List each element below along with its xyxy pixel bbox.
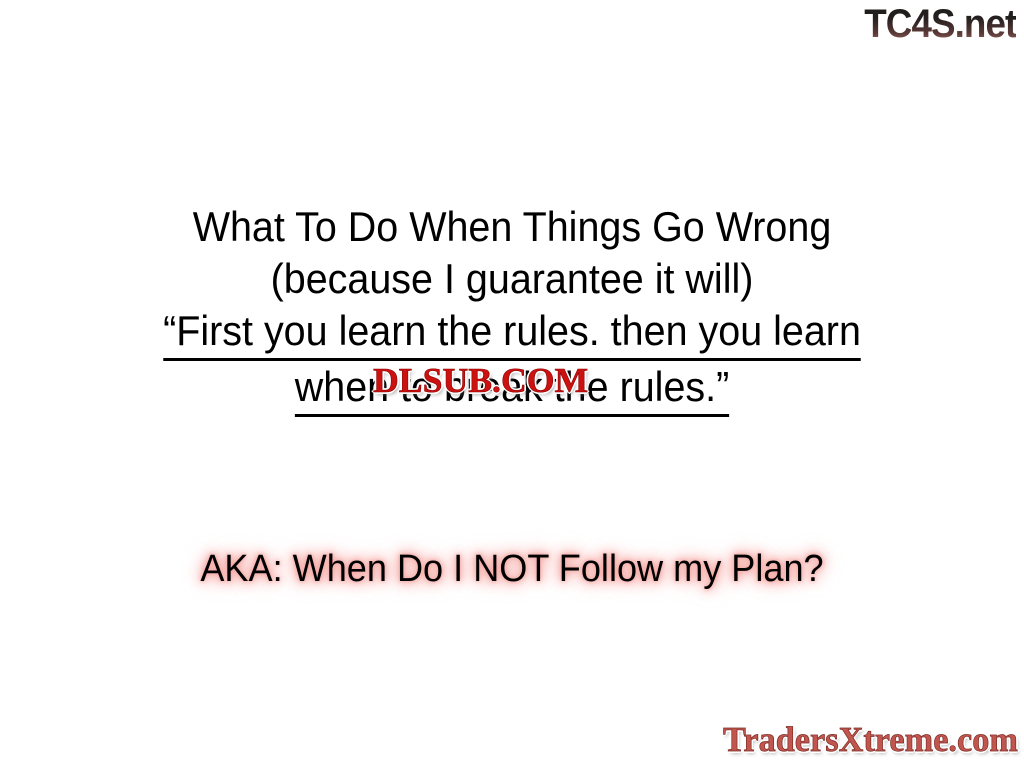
- headline-line-2: (because I guarantee it will): [31, 253, 994, 305]
- site-logo-tradersxtreme: TradersXtreme.com: [723, 720, 1018, 760]
- headline-line-3-text: “First you learn the rules. then you lea…: [163, 305, 861, 361]
- headline-line-2-text: (because I guarantee it will): [271, 255, 754, 302]
- brand-logo-tc4s: TC4S.net: [864, 2, 1016, 46]
- headline-line-1-text: What To Do When Things Go Wrong: [193, 203, 832, 250]
- headline-line-1: What To Do When Things Go Wrong: [31, 201, 994, 253]
- headline-line-3: “First you learn the rules. then you lea…: [31, 305, 994, 361]
- aka-subtitle: AKA: When Do I NOT Follow my Plan?: [26, 546, 999, 592]
- slide-canvas: TC4S.net What To Do When Things Go Wrong…: [0, 0, 1024, 768]
- dlsub-watermark: DLSUB.COM: [373, 362, 588, 400]
